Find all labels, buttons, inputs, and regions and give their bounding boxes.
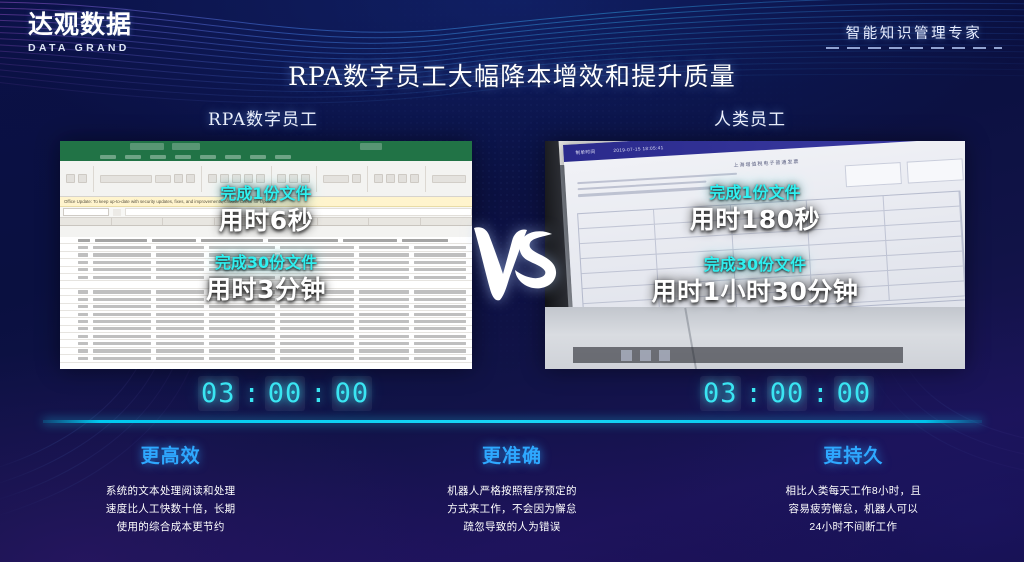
windows-taskbar[interactable] (573, 347, 903, 363)
human-timer-hours: 03 (703, 378, 738, 409)
table-row (60, 326, 472, 333)
rpa-timer-seconds: 00 (335, 378, 370, 409)
benefit-body: 机器人严格按照程序预定的 方式来工作，不会因为懈怠 疏忽导致的人为错误 (341, 482, 682, 536)
rpa-timer-sep1: : (244, 378, 260, 409)
rpa-caption-line2: 用时6秒 (60, 201, 472, 237)
brand-logo-cn: 达观数据 (28, 12, 148, 38)
benefit-efficiency: 更高效 系统的文本处理阅读和处理 速度比人工快数十倍，长期 使用的综合成本更节约 (0, 441, 341, 536)
benefit-body: 系统的文本处理阅读和处理 速度比人工快数十倍，长期 使用的综合成本更节约 (0, 482, 341, 536)
rpa-timer-hours: 03 (201, 378, 236, 409)
benefit-line: 相比人类每天工作8小时，且 (683, 482, 1024, 500)
web-app-timestamp: 2019-07-15 18:05:41 (613, 145, 663, 153)
benefit-title: 更持久 (683, 441, 1024, 468)
benefit-line: 机器人严格按照程序预定的 (341, 482, 682, 500)
benefit-line: 速度比人工快数十倍，长期 (0, 500, 341, 518)
taskbar-icon[interactable] (640, 350, 651, 361)
human-timer: 03 : 00 : 00 (700, 376, 874, 411)
rpa-timer-minutes: 00 (268, 378, 303, 409)
rpa-timer-sep2: : (310, 378, 326, 409)
table-row (60, 363, 472, 369)
taskbar-icon[interactable] (621, 350, 632, 361)
human-caption-line2: 用时180秒 (545, 200, 965, 236)
rpa-screenshot-panel: Office Update: To keep up-to-date with s… (60, 141, 472, 369)
benefit-endurance: 更持久 相比人类每天工作8小时，且 容易疲劳懈怠，机器人可以 24小时不间断工作 (683, 441, 1024, 536)
benefit-line: 容易疲劳懈怠，机器人可以 (683, 500, 1024, 518)
benefit-title: 更准确 (341, 441, 682, 468)
human-timer-sep2: : (812, 378, 828, 409)
brand-logo: 达观数据 DATA GRAND (28, 12, 148, 54)
slide-root: 达观数据 DATA GRAND 智能知识管理专家 RPA数字员工大幅降本增效和提… (0, 0, 1024, 562)
benefit-body: 相比人类每天工作8小时，且 容易疲劳懈怠，机器人可以 24小时不间断工作 (683, 482, 1024, 536)
human-timer-seconds: 00 (837, 378, 872, 409)
brand-logo-en: DATA GRAND (28, 42, 148, 54)
table-row (60, 333, 472, 340)
human-timer-minutes: 00 (770, 378, 805, 409)
benefit-line: 方式来工作，不会因为懈怠 (341, 500, 682, 518)
taskbar-icon[interactable] (659, 350, 670, 361)
table-row (60, 318, 472, 325)
human-caption-line4: 用时1小时30分钟 (545, 272, 965, 308)
tagline-text: 智能知识管理专家 (826, 22, 1002, 43)
tagline-block: 智能知识管理专家 (826, 22, 1002, 49)
human-timer-sep1: : (746, 378, 762, 409)
benefits-row: 更高效 系统的文本处理阅读和处理 速度比人工快数十倍，长期 使用的综合成本更节约… (0, 441, 1024, 536)
column-heading-human: 人类员工 (660, 105, 840, 130)
table-row (60, 237, 472, 244)
table-row (60, 340, 472, 347)
rpa-caption-line4: 用时3分钟 (60, 270, 472, 306)
column-heading-rpa: RPA数字员工 (163, 105, 363, 130)
excel-title-bar (60, 141, 472, 152)
page-title: RPA数字员工大幅降本增效和提升质量 (0, 57, 1024, 93)
table-row (60, 355, 472, 362)
human-photo-panel: 制单时间 2019-07-15 18:05:41 上海增值税电子普通发票 (545, 141, 965, 369)
tagline-dashed-rule (826, 47, 1002, 49)
benefit-line: 24小时不间断工作 (683, 518, 1024, 536)
rpa-timer: 03 : 00 : 00 (198, 376, 372, 411)
benefit-accuracy: 更准确 机器人严格按照程序预定的 方式来工作，不会因为懈怠 疏忽导致的人为错误 (341, 441, 682, 536)
table-row (60, 311, 472, 318)
vs-icon (470, 222, 558, 308)
benefit-line: 疏忽导致的人为错误 (341, 518, 682, 536)
web-app-label: 制单时间 (575, 149, 595, 156)
benefit-title: 更高效 (0, 441, 341, 468)
table-row (60, 348, 472, 355)
excel-ribbon-tabs (60, 152, 472, 161)
section-divider (43, 420, 982, 423)
benefit-line: 系统的文本处理阅读和处理 (0, 482, 341, 500)
benefit-line: 使用的综合成本更节约 (0, 518, 341, 536)
